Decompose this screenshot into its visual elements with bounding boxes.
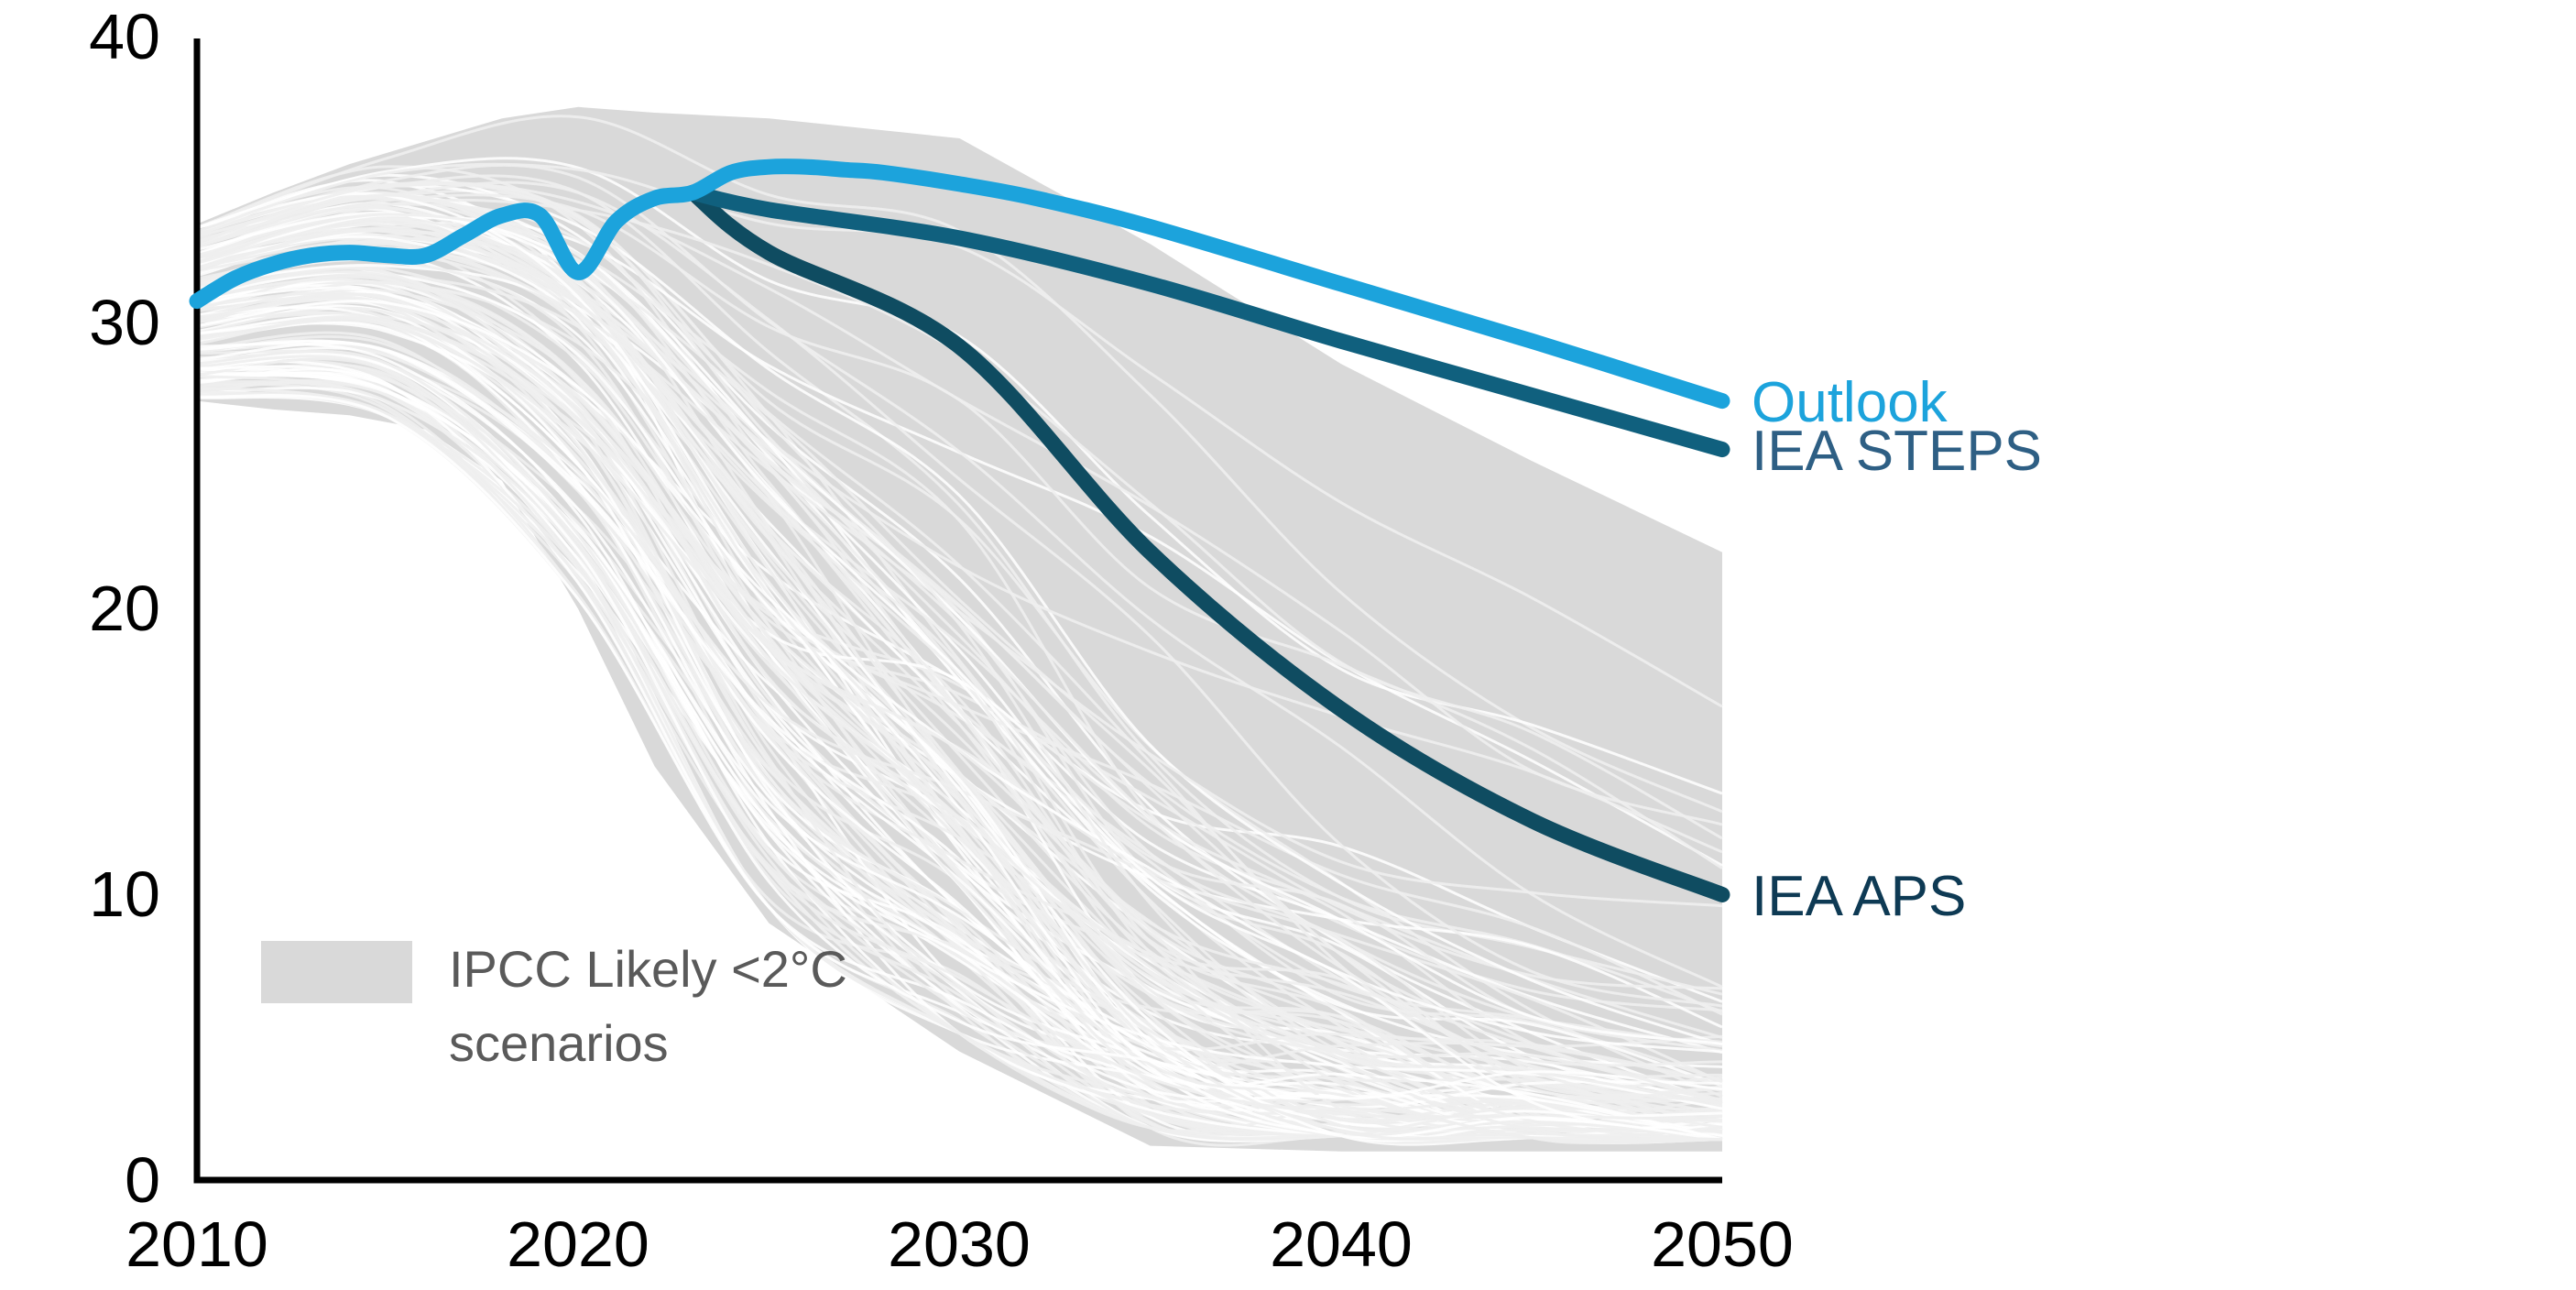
series-label-iea-aps: IEA APS <box>1752 865 1966 928</box>
y-tick-10: 10 <box>89 858 160 930</box>
ipcc-band-group <box>197 107 1722 1152</box>
ipcc-legend-label-line2: scenarios <box>449 1014 669 1072</box>
ipcc-legend-swatch <box>261 941 412 1003</box>
x-tick-2010: 2010 <box>126 1208 268 1280</box>
x-tick-2040: 2040 <box>1270 1208 1413 1280</box>
y-tick-30: 30 <box>89 287 160 358</box>
x-tick-2030: 2030 <box>888 1208 1031 1280</box>
x-tick-2050: 2050 <box>1651 1208 1794 1280</box>
y-tick-0: 0 <box>125 1144 160 1216</box>
ipcc-legend-label-line1: IPCC Likely <2°C <box>449 940 847 998</box>
emissions-line-chart: 0 10 20 30 40 2010 2020 2030 2040 2050 O… <box>0 0 2576 1290</box>
y-tick-20: 20 <box>89 573 160 644</box>
y-tick-40: 40 <box>89 1 160 72</box>
series-label-iea-steps: IEA STEPS <box>1752 420 2042 483</box>
chart-container: 0 10 20 30 40 2010 2020 2030 2040 2050 O… <box>0 0 2576 1290</box>
x-tick-2020: 2020 <box>507 1208 649 1280</box>
